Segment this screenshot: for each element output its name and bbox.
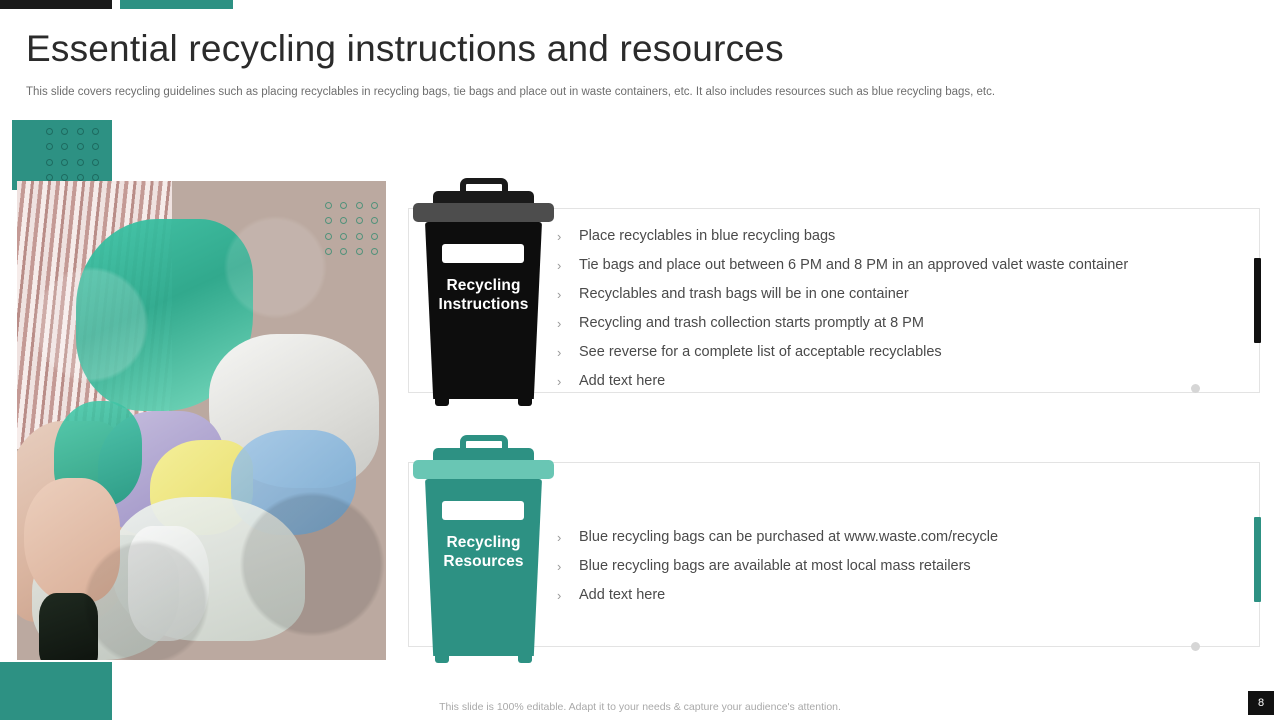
list-item-label: See reverse for a complete list of accep… (579, 344, 942, 360)
accent-bar-instructions (1254, 258, 1261, 343)
bin-label-instructions: Recycling Instructions (411, 276, 556, 314)
chevron-right-icon: › (557, 581, 561, 610)
dot (356, 202, 363, 209)
dot (61, 174, 68, 181)
list-item-label: Tie bags and place out between 6 PM and … (579, 257, 1128, 273)
bin-label-line-1: Recycling (411, 533, 556, 552)
chevron-right-icon: › (557, 251, 561, 280)
page-title: Essential recycling instructions and res… (26, 26, 1126, 72)
bullet-list-instructions: › Place recyclables in blue recycling ba… (557, 222, 1217, 396)
page-number-badge: 8 (1248, 691, 1274, 715)
dot (340, 233, 347, 240)
trash-bin-icon-resources: Recycling Resources (411, 435, 556, 663)
dot (340, 248, 347, 255)
bin-foot-left-shape (435, 394, 449, 406)
dot (325, 248, 332, 255)
dot (325, 233, 332, 240)
dot-grid-icon-topleft (46, 128, 100, 182)
bin-foot-right-shape (518, 394, 532, 406)
dot (92, 128, 99, 135)
dot (371, 248, 378, 255)
dot (61, 128, 68, 135)
list-item-label: Add text here (579, 373, 665, 389)
chevron-right-icon: › (557, 309, 561, 338)
dot (371, 202, 378, 209)
accent-bar-resources (1254, 517, 1261, 602)
dot (77, 174, 84, 181)
top-accent-bar-dark (0, 0, 112, 9)
chevron-right-icon: › (557, 523, 561, 552)
list-item-label: Blue recycling bags can be purchased at … (579, 529, 998, 545)
dot (77, 159, 84, 166)
trash-bin-icon-instructions: Recycling Instructions (411, 178, 556, 406)
list-item: › Add text here (557, 581, 1217, 610)
bin-lid-shape (413, 460, 554, 479)
page-subtitle: This slide covers recycling guidelines s… (26, 85, 1146, 100)
bullet-list-resources: › Blue recycling bags can be purchased a… (557, 523, 1217, 610)
chevron-right-icon: › (557, 280, 561, 309)
dot (46, 159, 53, 166)
list-item-label: Add text here (579, 587, 665, 603)
dot (340, 202, 347, 209)
dot (92, 174, 99, 181)
dot (46, 174, 53, 181)
dot (46, 143, 53, 150)
list-item: › Recyclables and trash bags will be in … (557, 280, 1217, 309)
list-item: › Tie bags and place out between 6 PM an… (557, 251, 1217, 280)
dot (356, 217, 363, 224)
bin-foot-right-shape (518, 651, 532, 663)
footer-note: This slide is 100% editable. Adapt it to… (0, 701, 1280, 713)
dot (77, 143, 84, 150)
bin-label-resources: Recycling Resources (411, 533, 556, 571)
list-item-label: Recyclables and trash bags will be in on… (579, 286, 909, 302)
dot (61, 159, 68, 166)
dot (356, 233, 363, 240)
handle-dot-resources[interactable] (1191, 642, 1200, 651)
bin-foot-left-shape (435, 651, 449, 663)
dot-grid-icon-photo (325, 202, 379, 256)
list-item: › Blue recycling bags can be purchased a… (557, 523, 1217, 552)
chevron-right-icon: › (557, 552, 561, 581)
dot (92, 159, 99, 166)
dot (46, 128, 53, 135)
bin-slot-shape (442, 501, 524, 520)
chevron-right-icon: › (557, 222, 561, 251)
chevron-right-icon: › (557, 338, 561, 367)
list-item: › See reverse for a complete list of acc… (557, 338, 1217, 367)
dot (325, 217, 332, 224)
dot (325, 202, 332, 209)
chevron-right-icon: › (557, 367, 561, 396)
bin-label-line-1: Recycling (411, 276, 556, 295)
dot (340, 217, 347, 224)
bin-lid-shape (413, 203, 554, 222)
top-accent-bar-teal (120, 0, 233, 9)
list-item: › Recycling and trash collection starts … (557, 309, 1217, 338)
dot (92, 143, 99, 150)
dot (371, 217, 378, 224)
dot (77, 128, 84, 135)
dot (61, 143, 68, 150)
list-item: › Place recyclables in blue recycling ba… (557, 222, 1217, 251)
bin-slot-shape (442, 244, 524, 263)
list-item-label: Place recyclables in blue recycling bags (579, 228, 835, 244)
list-item-label: Recycling and trash collection starts pr… (579, 315, 924, 331)
bin-label-line-2: Instructions (411, 295, 556, 314)
bin-label-line-2: Resources (411, 552, 556, 571)
dot (356, 248, 363, 255)
list-item: › Add text here (557, 367, 1217, 396)
dot (371, 233, 378, 240)
list-item: › Blue recycling bags are available at m… (557, 552, 1217, 581)
list-item-label: Blue recycling bags are available at mos… (579, 558, 971, 574)
